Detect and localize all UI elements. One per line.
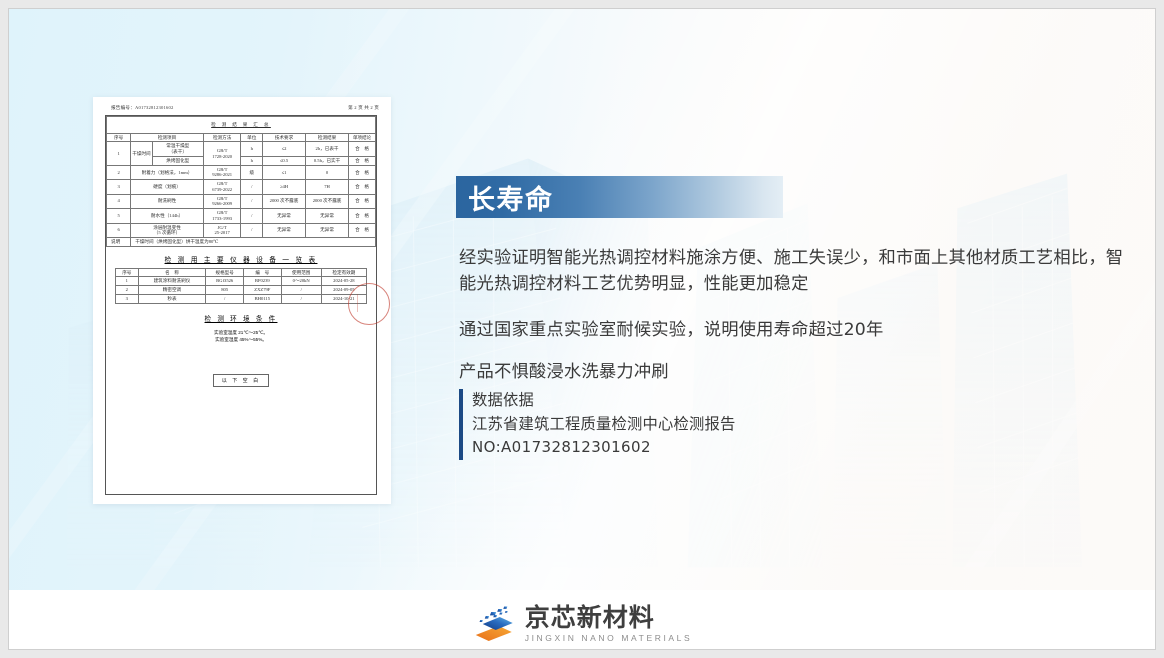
cell-result: 2000 次不露底 [306, 194, 349, 208]
table-row: 1 干燥时间 常温干燥型 （表干） GB/T 1728-2020 h ≤2 2h… [107, 142, 376, 156]
cell-item: 常温干燥型 （表干） [152, 142, 203, 156]
environment-humidity: 实验室湿度 45%～55%。 [115, 336, 367, 343]
table-row: 4 耐洗刷性 GB/T 9266-2009 / 2000 次不露底 2000 次… [107, 194, 376, 208]
eq-cell-range: 0～20kN [281, 277, 321, 286]
slide-frame: 报告编号：A01732812301602 第 2 页 共 2 页 检 测 结 果… [8, 8, 1156, 650]
cell-result: 无异常 [306, 209, 349, 223]
table-row: 3 硬度（划痕） GB/T 6739-2022 / ≥4H 7H 合 格 [107, 180, 376, 194]
cell-req: ≤0.5 [263, 156, 306, 165]
data-source-label: 数据依据 [472, 389, 735, 413]
cell-item: 耐洗刷性 [131, 194, 204, 208]
eq-cell-no: 1 [116, 277, 139, 286]
cell-item-group: 干燥时间 [131, 142, 153, 165]
brand-text: 京芯新材料 JINGXIN NANO MATERIALS [525, 605, 693, 643]
cell-conclusion: 合 格 [349, 165, 376, 179]
report-header: 报告编号：A01732812301602 第 2 页 共 2 页 [111, 105, 379, 111]
eq-cell-range: / [281, 294, 321, 303]
cell-method: JG/T 25-2017 [203, 223, 241, 237]
equipment-table-header: 序号 名 称 规格型号 编 号 使用范围 检定有效期 [116, 268, 367, 277]
body-copy: 经实验证明智能光热调控材料施涂方便、施工失误少，和市面上其他材质工艺相比，智能光… [459, 245, 1131, 385]
eq-col-name: 名 称 [138, 268, 206, 277]
col-item: 检测项目 [131, 133, 204, 142]
cell-req: ≤1 [263, 165, 306, 179]
cell-item: 涂层耐温变性 （5 次循环） [131, 223, 204, 237]
results-table-header: 序号 检测项目 检测方法 单位 技术要求 检测结果 单项结论 [107, 133, 376, 142]
test-report-image[interactable]: 报告编号：A01732812301602 第 2 页 共 2 页 检 测 结 果… [93, 97, 391, 504]
data-source-org: 江苏省建筑工程质量检测中心检测报告 [472, 413, 735, 437]
cell-no: 2 [107, 165, 131, 179]
cell-conclusion: 合 格 [349, 223, 376, 237]
eq-cell-model: 805 [206, 286, 244, 295]
blank-mark-wrap: 以 下 空 白 [115, 369, 367, 387]
cell-item: 耐水性（144h） [131, 209, 204, 223]
cell-no: 3 [107, 180, 131, 194]
eq-cell-no: 3 [116, 294, 139, 303]
eq-col-model: 规格型号 [206, 268, 244, 277]
cell-conclusion: 合 格 [349, 142, 376, 156]
cell-unit: h [241, 142, 263, 156]
cell-conclusion: 合 格 [349, 209, 376, 223]
cell-unit: / [241, 180, 263, 194]
page-title: 长寿命 [468, 178, 554, 217]
report-page-number: 第 2 页 共 2 页 [348, 105, 379, 111]
red-seal-stamp [348, 283, 390, 325]
environment-title: 检 测 环 境 条 件 [115, 313, 367, 323]
cell-item: 烘烤固化型 [152, 156, 203, 165]
cell-unit: / [241, 223, 263, 237]
cell-req: ≥4H [263, 180, 306, 194]
table-row: 2 精密空调 805 ZXZ79F / 2024-09-05 [116, 286, 367, 295]
table-note-row: 说明 干燥时间（烘烤固化型）烘干温度为80℃ [107, 238, 376, 247]
eq-cell-model: / [206, 294, 244, 303]
col-no: 序号 [107, 133, 131, 142]
cell-method: GB/T 9286-2021 [203, 165, 241, 179]
results-table-title-row: 检 测 结 果 汇 总 [107, 117, 376, 134]
environment-temperature: 实验室温度 21℃～25℃。 [115, 329, 367, 336]
cell-item: 硬度（划痕） [131, 180, 204, 194]
cell-conclusion: 合 格 [349, 156, 376, 165]
eq-cell-name: 建筑涂料耐洗刷仪 [138, 277, 206, 286]
cell-conclusion: 合 格 [349, 180, 376, 194]
cell-result: 2h，已表干 [306, 142, 349, 156]
results-table: 检 测 结 果 汇 总 序号 检测项目 检测方法 单位 技术要求 检测结果 单项… [106, 116, 376, 247]
cell-unit: / [241, 194, 263, 208]
equipment-table: 序号 名 称 规格型号 编 号 使用范围 检定有效期 1 建筑涂料耐洗刷仪 BG… [115, 268, 367, 304]
cell-result: 7H [306, 180, 349, 194]
col-req: 技术要求 [263, 133, 306, 142]
cell-conclusion: 合 格 [349, 194, 376, 208]
cell-req: 2000 次不露底 [263, 194, 306, 208]
results-table-title: 检 测 结 果 汇 总 [107, 117, 376, 134]
note-text: 干燥时间（烘烤固化型）烘干温度为80℃ [131, 238, 376, 247]
eq-cell-range: / [281, 286, 321, 295]
equipment-section: 检 测 用 主 要 仪 器 设 备 一 览 表 序号 名 称 规格型号 编 号 … [106, 254, 376, 387]
cell-method: GB/T 9266-2009 [203, 194, 241, 208]
test-report-page: 报告编号：A01732812301602 第 2 页 共 2 页 检 测 结 果… [93, 97, 391, 504]
cell-no: 6 [107, 223, 131, 237]
eq-cell-model: BGf3526 [206, 277, 244, 286]
table-row: 2 附着力（划格法，1mm） GB/T 9286-2021 级 ≤1 0 合 格 [107, 165, 376, 179]
brand-logo: 京芯新材料 JINGXIN NANO MATERIALS [472, 605, 693, 643]
eq-cell-code: BF0239 [243, 277, 281, 286]
eq-cell-name: 精密空调 [138, 286, 206, 295]
brand-name-en: JINGXIN NANO MATERIALS [525, 634, 693, 643]
cell-req: 无异常 [263, 223, 306, 237]
eq-col-no: 序号 [116, 268, 139, 277]
table-row: 6 涂层耐温变性 （5 次循环） JG/T 25-2017 / 无异常 无异常 … [107, 223, 376, 237]
col-result: 检测结果 [306, 133, 349, 142]
paragraph-1: 经实验证明智能光热调控材料施涂方便、施工失误少，和市面上其他材质工艺相比，智能光… [459, 245, 1131, 298]
cell-result: 0.5h，已实干 [306, 156, 349, 165]
cell-method: GB/T 1733-1993 [203, 209, 241, 223]
data-source-block: 数据依据 江苏省建筑工程质量检测中心检测报告 NO:A0173281230160… [459, 389, 735, 460]
cell-result: 0 [306, 165, 349, 179]
data-source-number: NO:A01732812301602 [472, 436, 735, 459]
note-label: 说明 [107, 238, 131, 247]
paragraph-3: 产品不惧酸浸水洗暴力冲刷 [459, 359, 1131, 385]
cell-unit: h [241, 156, 263, 165]
eq-cell-code: ZXZ79F [243, 286, 281, 295]
brand-name-cn: 京芯新材料 [525, 605, 693, 630]
table-row: 1 建筑涂料耐洗刷仪 BGf3526 BF0239 0～20kN 2024-05… [116, 277, 367, 286]
cell-method: GB/T 6739-2022 [203, 180, 241, 194]
eq-cell-code: BH0115 [243, 294, 281, 303]
report-border-frame: 检 测 结 果 汇 总 序号 检测项目 检测方法 单位 技术要求 检测结果 单项… [105, 115, 377, 495]
eq-col-range: 使用范围 [281, 268, 321, 277]
cell-method: GB/T 1728-2020 [203, 142, 241, 165]
slide-canvas: 报告编号：A01732812301602 第 2 页 共 2 页 检 测 结 果… [0, 0, 1164, 658]
eq-col-valid: 检定有效期 [321, 268, 366, 277]
col-conclusion: 单项结论 [349, 133, 376, 142]
report-number: 报告编号：A01732812301602 [111, 105, 173, 111]
cell-result: 无异常 [306, 223, 349, 237]
cell-unit: 级 [241, 165, 263, 179]
cell-no: 4 [107, 194, 131, 208]
table-row: 3 秒表 / BH0115 / 2024-10-21 [116, 294, 367, 303]
blank-mark: 以 下 空 白 [213, 374, 269, 386]
cell-req: 无异常 [263, 209, 306, 223]
eq-cell-name: 秒表 [138, 294, 206, 303]
cell-no: 1 [107, 142, 131, 165]
cell-no: 5 [107, 209, 131, 223]
paragraph-2: 通过国家重点实验室耐候实验，说明使用寿命超过20年 [459, 317, 1131, 343]
eq-cell-no: 2 [116, 286, 139, 295]
table-row: 5 耐水性（144h） GB/T 1733-1993 / 无异常 无异常 合 格 [107, 209, 376, 223]
equipment-title: 检 测 用 主 要 仪 器 设 备 一 览 表 [115, 254, 367, 264]
cell-unit: / [241, 209, 263, 223]
col-unit: 单位 [241, 133, 263, 142]
logo-mark-icon [472, 605, 516, 643]
section-title-banner: 长寿命 [456, 176, 783, 218]
cell-req: ≤2 [263, 142, 306, 156]
col-method: 检测方法 [203, 133, 241, 142]
eq-col-code: 编 号 [243, 268, 281, 277]
cell-item: 附着力（划格法，1mm） [131, 165, 204, 179]
